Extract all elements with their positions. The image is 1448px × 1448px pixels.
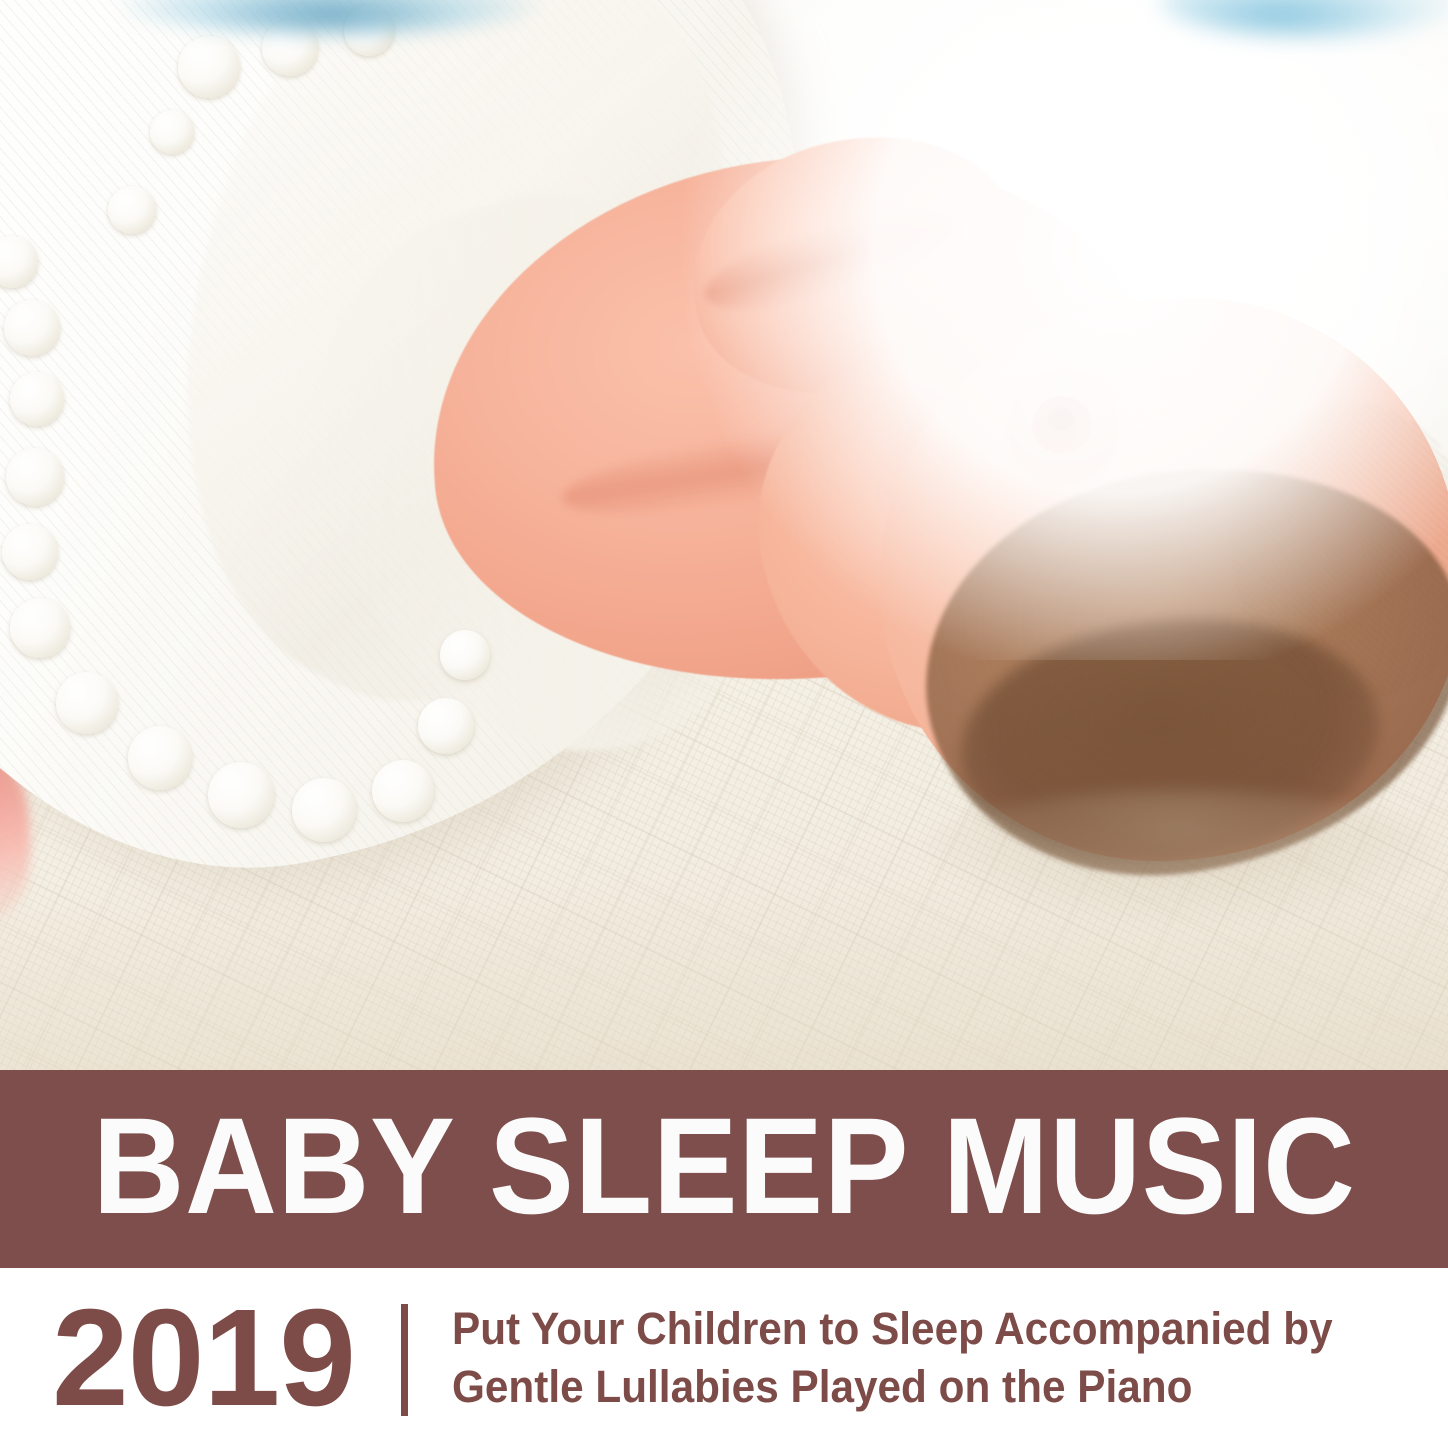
pompom	[178, 36, 240, 98]
pompom	[150, 110, 194, 154]
pompom	[128, 726, 192, 790]
title-band: BABY SLEEP MUSIC	[0, 1070, 1448, 1268]
overexposed-highlight	[668, 0, 1448, 660]
pompom	[372, 760, 434, 822]
album-subtitle: Put Your Children to Sleep Accompanied b…	[452, 1300, 1333, 1415]
pompom	[10, 598, 70, 658]
pompom	[6, 448, 64, 506]
pompom	[10, 372, 64, 426]
cover-photograph	[0, 0, 1448, 1070]
head-cast-shadow	[920, 790, 1440, 920]
pompom	[440, 630, 490, 680]
vertical-divider	[401, 1304, 408, 1416]
pompom	[292, 778, 356, 842]
pompom	[108, 186, 156, 234]
album-title: BABY SLEEP MUSIC	[93, 1098, 1356, 1235]
pompom	[208, 762, 274, 828]
subtitle-line-2: Gentle Lullabies Played on the Piano	[452, 1358, 1333, 1416]
pompom	[56, 672, 118, 734]
release-year: 2019	[52, 1289, 355, 1427]
pompom	[418, 698, 474, 754]
subtitle-line-1: Put Your Children to Sleep Accompanied b…	[452, 1300, 1333, 1358]
pompom	[2, 524, 58, 580]
pompom	[4, 300, 60, 356]
album-cover: BABY SLEEP MUSIC 2019 Put Your Children …	[0, 0, 1448, 1448]
footer-bar: 2019 Put Your Children to Sleep Accompan…	[0, 1268, 1448, 1448]
